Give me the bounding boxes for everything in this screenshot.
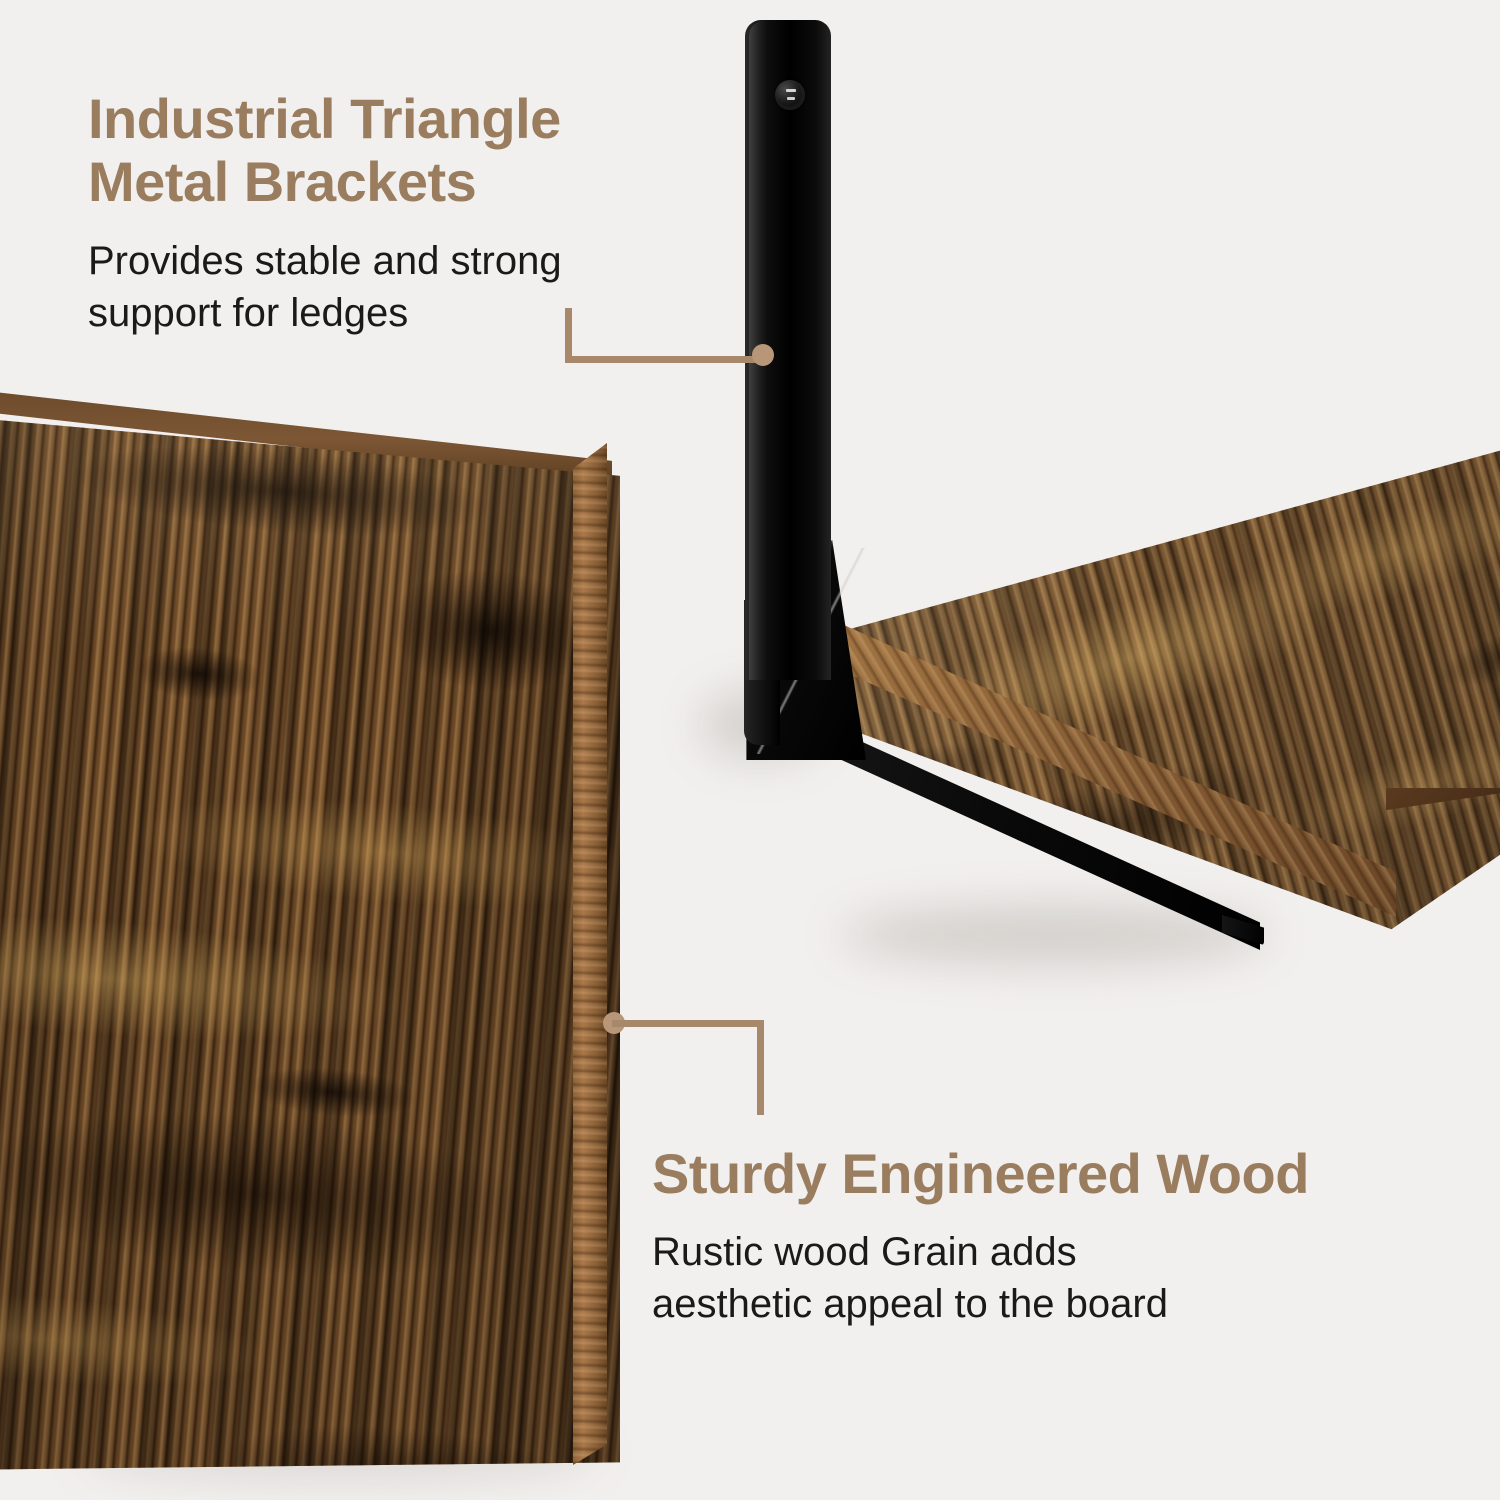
board-edge-grain [573,443,607,1465]
leader-wood-vertical-segment [757,1020,764,1115]
infographic-canvas: Industrial Triangle Metal Brackets Provi… [0,0,1500,1500]
board-right-edge-band [573,443,607,1465]
callout-brackets-headline: Industrial Triangle Metal Brackets [88,88,562,213]
bracket-vertical-sheen [749,20,767,680]
callout-wood: Sturdy Engineered Wood Rustic wood Grain… [652,1143,1309,1330]
callout-brackets-subline: Provides stable and strong support for l… [88,235,562,339]
callout-wood-subline: Rustic wood Grain adds aesthetic appeal … [652,1226,1309,1330]
board-face-shading [0,380,620,1470]
leader-brackets-vertical-segment [565,308,572,363]
screw-slot-highlight-2 [787,97,795,100]
callout-wood-headline: Sturdy Engineered Wood [652,1143,1309,1206]
wood-board-left [0,380,620,1470]
mounting-screw-icon [775,80,805,110]
callout-brackets: Industrial Triangle Metal Brackets Provi… [88,88,562,339]
leader-wood-horizontal-segment [612,1020,764,1027]
bracket-vertical-arm [745,20,831,680]
screw-slot-highlight-1 [786,89,796,92]
leader-brackets-horizontal-segment [565,356,765,363]
